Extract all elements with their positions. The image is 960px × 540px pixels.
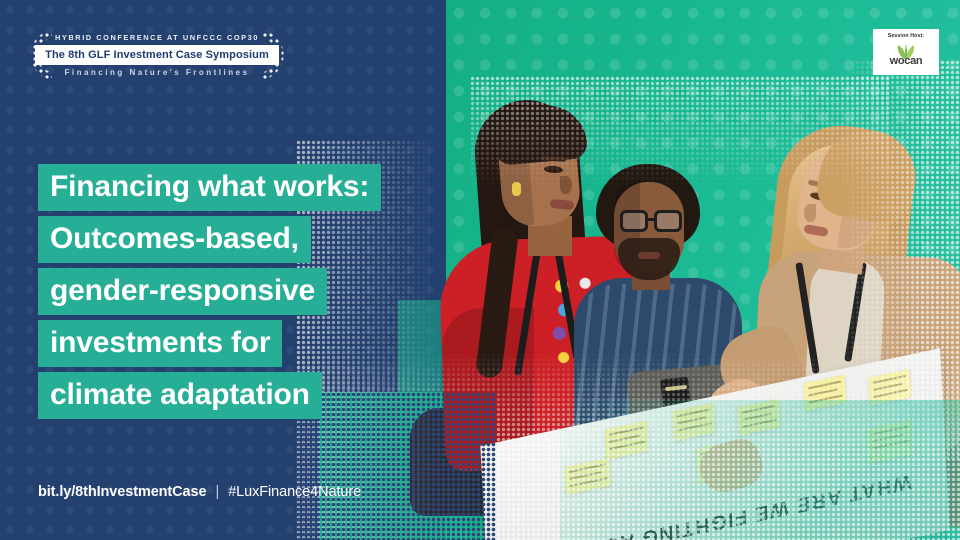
session-host-label: Session Host: — [888, 33, 925, 39]
badge-eyebrow: HYBRID CONFERENCE AT UNFCCC COP30 — [55, 33, 259, 42]
participant-left-nose — [560, 176, 572, 194]
badge-title: The 8th GLF Investment Case Symposium — [35, 45, 279, 65]
footer: bit.ly/8thInvestmentCase | #LuxFinance4N… — [38, 484, 361, 500]
footer-separator: | — [215, 484, 219, 500]
participant-left-earring — [512, 182, 521, 196]
laurel-right-icon — [262, 26, 288, 84]
participant-center-glasses-right — [654, 210, 682, 232]
headline-line-3: gender-responsive — [38, 268, 327, 315]
footer-url[interactable]: bit.ly/8thInvestmentCase — [38, 484, 206, 500]
headline-line-2: Outcomes-based, — [38, 216, 311, 263]
poster-canvas: WHAT ARE WE FIGHTING AGAINST? HYBRID CON… — [0, 0, 960, 540]
participant-center-glasses-bridge — [647, 218, 656, 221]
headline-line-1: Financing what works: — [38, 164, 381, 211]
teal-veil — [560, 400, 960, 540]
event-badge: HYBRID CONFERENCE AT UNFCCC COP30 The 8t… — [26, 24, 288, 86]
footer-hashtag[interactable]: #LuxFinance4Nature — [228, 484, 361, 500]
laurel-left-icon — [26, 26, 52, 84]
wocan-wordmark: wocan — [890, 55, 923, 67]
session-host-card: Session Host: wocan — [873, 29, 939, 75]
headline: Financing what works: Outcomes-based, ge… — [38, 164, 381, 419]
participant-center-glasses-left — [620, 210, 648, 232]
headline-line-4: investments for — [38, 320, 282, 367]
participant-center-mouth — [638, 252, 660, 259]
badge-tagline: Financing Nature's Frontlines — [64, 68, 249, 77]
headline-line-5: climate adaptation — [38, 372, 322, 419]
participant-right-nose — [804, 204, 816, 222]
